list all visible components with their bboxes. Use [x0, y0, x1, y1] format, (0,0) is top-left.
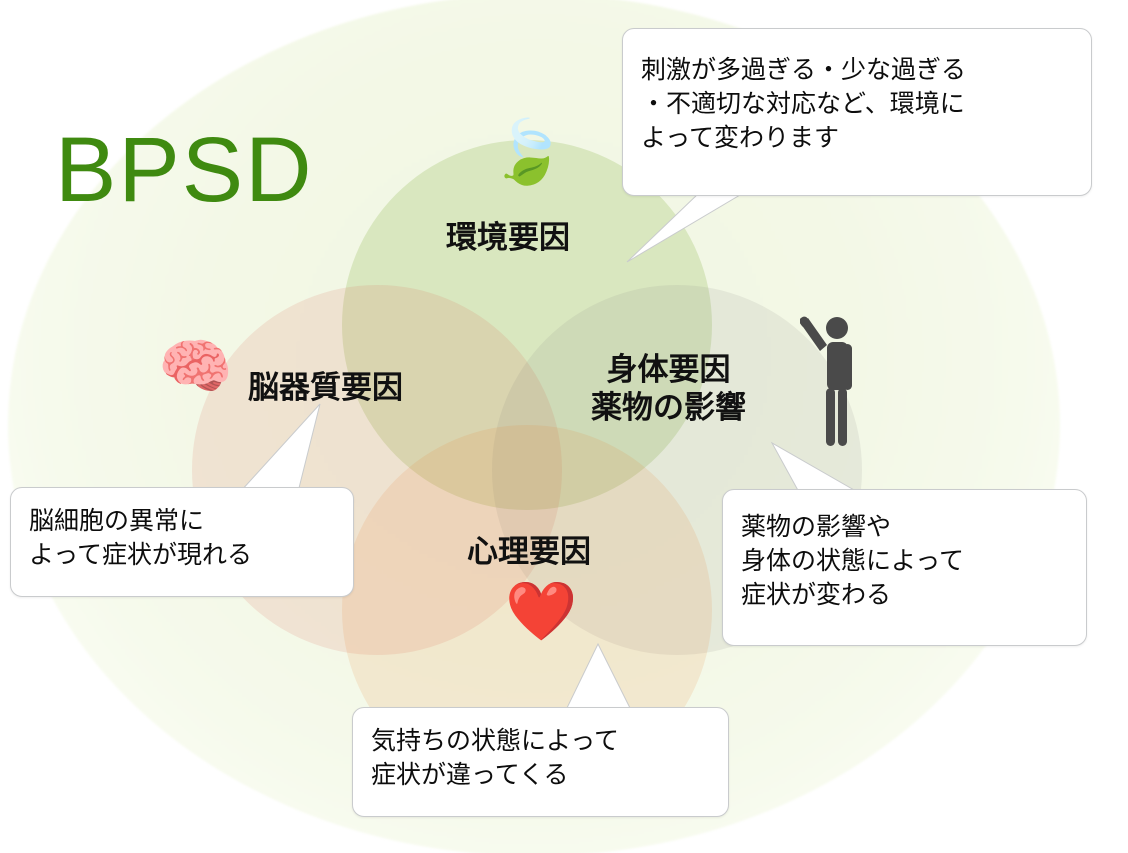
- circle-label-physical-line2: 薬物の影響: [591, 389, 746, 427]
- callout-environment: 刺激が多過ぎる・少な過ぎる ・不適切な対応など、環境に よって変わります: [622, 28, 1092, 196]
- callout-brain-organic: 脳細胞の異常に よって症状が現れる: [10, 487, 354, 597]
- brain-icon: 🧠: [158, 337, 233, 397]
- circle-label-physical-line1: 身体要因: [591, 351, 746, 389]
- leaf-icon: 🍃: [489, 122, 566, 184]
- heart-icon: ❤️: [505, 583, 577, 641]
- page-title: BPSD: [55, 124, 314, 216]
- circle-label-physical: 身体要因 薬物の影響: [591, 351, 746, 427]
- person-raising-arm-icon: [800, 312, 862, 452]
- diagram-canvas: BPSD 環境要因 脳器質要因 身体要因 薬物の影響 心理要因 🍃 🧠 ❤️ 刺…: [0, 0, 1128, 853]
- circle-label-psychological: 心理要因: [467, 533, 591, 571]
- callout-physical: 薬物の影響や 身体の状態によって 症状が変わる: [722, 489, 1087, 646]
- callout-psychological: 気持ちの状態によって 症状が違ってくる: [352, 707, 729, 817]
- circle-label-environment: 環境要因: [446, 219, 570, 257]
- circle-label-brain-organic: 脳器質要因: [248, 369, 403, 407]
